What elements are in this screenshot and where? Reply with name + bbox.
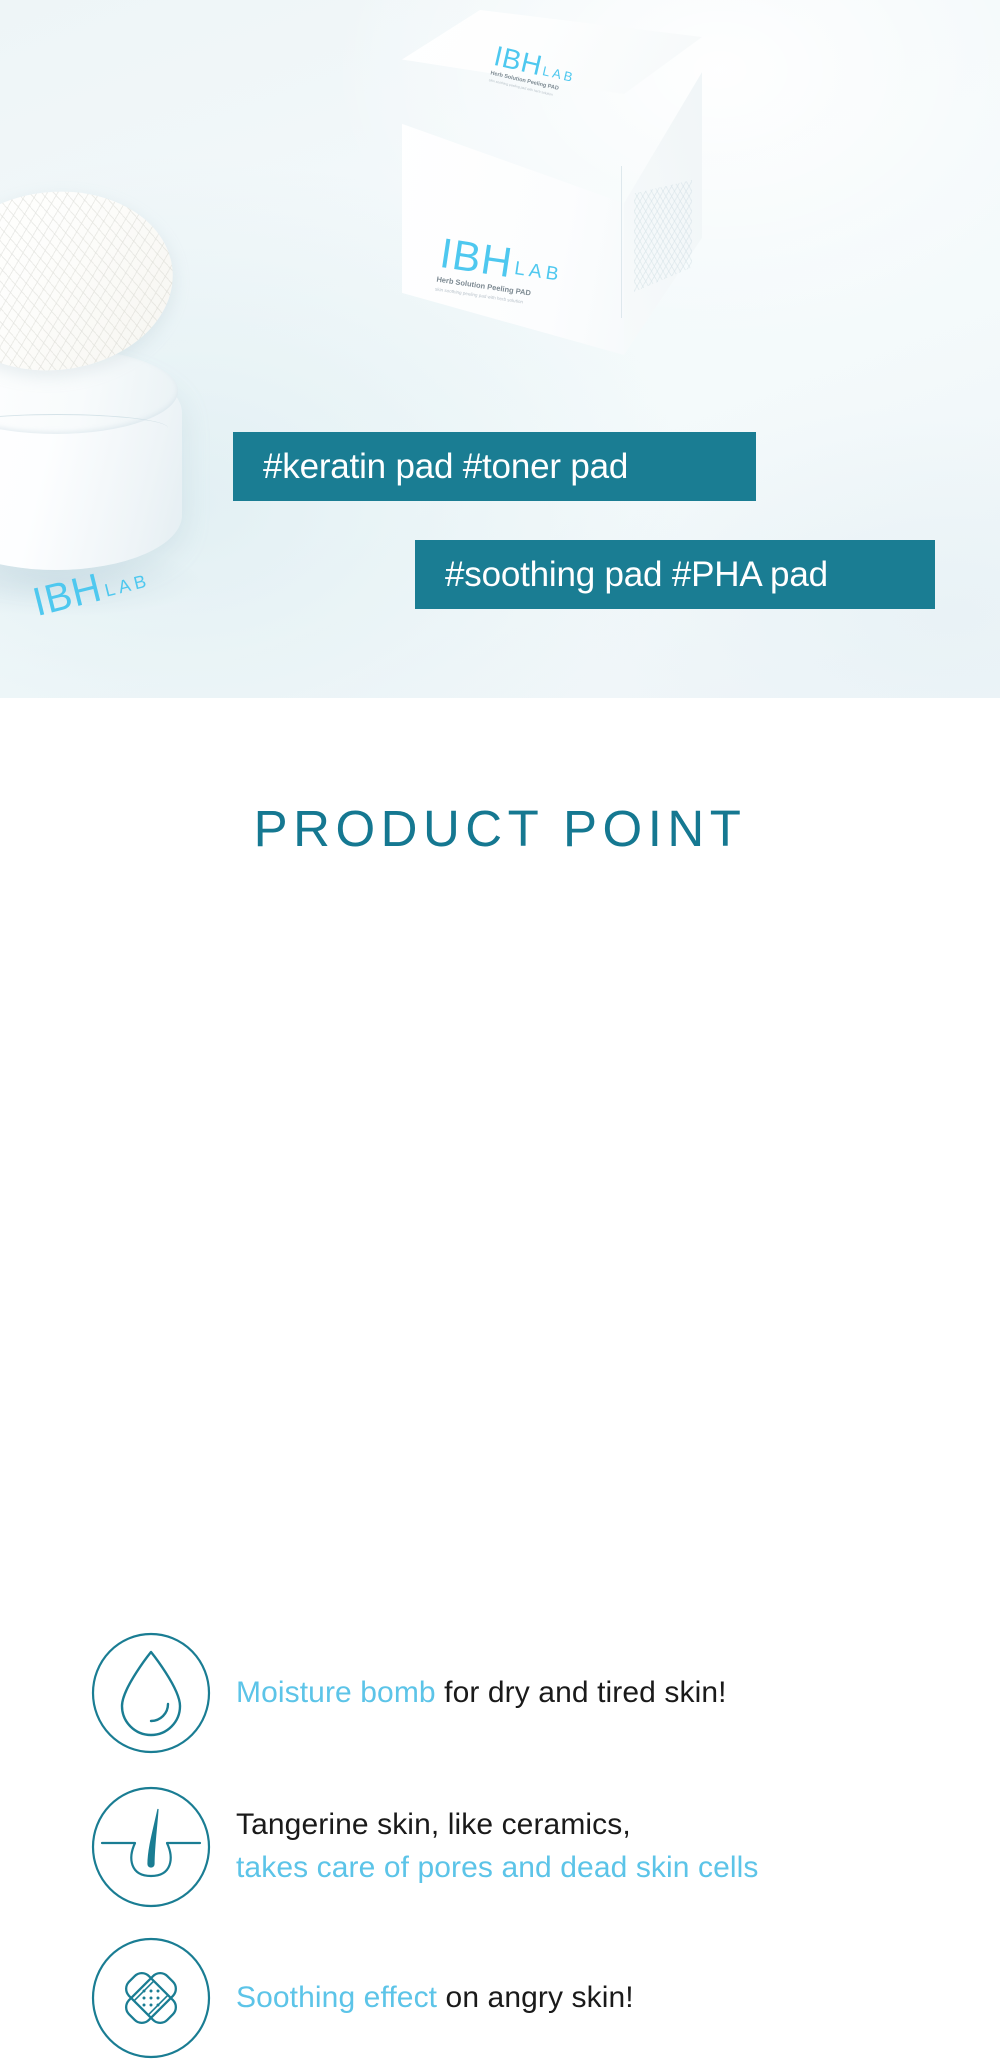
brand-logo-lab: LAB (541, 64, 576, 84)
hashtag-banner-soothing-pha: #soothing pad #PHA pad (415, 540, 935, 609)
feature-text-pores: Tangerine skin, like ceramics, takes car… (236, 1804, 759, 1889)
section-title-product-point: PRODUCT POINT (0, 799, 1000, 858)
feature-row-pores: Tangerine skin, like ceramics, takes car… (88, 1784, 958, 1910)
cotton-peeling-pad (0, 180, 182, 382)
brand-logo-ibh: IBH (438, 236, 515, 281)
pad-embossed-texture (0, 180, 182, 382)
feature-text-moisture: Moisture bomb for dry and tired skin! (236, 1672, 727, 1715)
feature-line: Tangerine skin, like ceramics, (236, 1804, 759, 1847)
feature-accent-text: Moisture bomb (236, 1676, 436, 1709)
product-point-section: PRODUCT POINT Moisture bomb for dry and … (0, 698, 1000, 1427)
hashtag-banner-keratin-toner: #keratin pad #toner pad (233, 432, 756, 501)
hair-follicle-pore-icon (88, 1784, 214, 1910)
water-drop-icon (88, 1630, 214, 1756)
feature-line-accent: takes care of pores and dead skin cells (236, 1847, 759, 1890)
brand-logo-lab: LAB (513, 259, 564, 285)
feature-accent-text: Soothing effect (236, 1981, 437, 2014)
hero-product-photo: IBH LAB Herb Solution Peeling PAD skin s… (0, 0, 1000, 698)
feature-row-soothing: Soothing effect on angry skin! (88, 1935, 958, 2061)
bandage-cross-icon (88, 1935, 214, 2061)
feature-row-moisture: Moisture bomb for dry and tired skin! (88, 1630, 958, 1756)
feature-plain-text: for dry and tired skin! (436, 1676, 727, 1709)
feature-plain-text: on angry skin! (437, 1981, 634, 2014)
feature-line: Moisture bomb for dry and tired skin! (236, 1672, 727, 1715)
product-detail-page: IBH LAB Herb Solution Peeling PAD skin s… (0, 0, 1000, 1427)
feature-text-soothing: Soothing effect on angry skin! (236, 1977, 634, 2020)
feature-line: Soothing effect on angry skin! (236, 1977, 634, 2020)
